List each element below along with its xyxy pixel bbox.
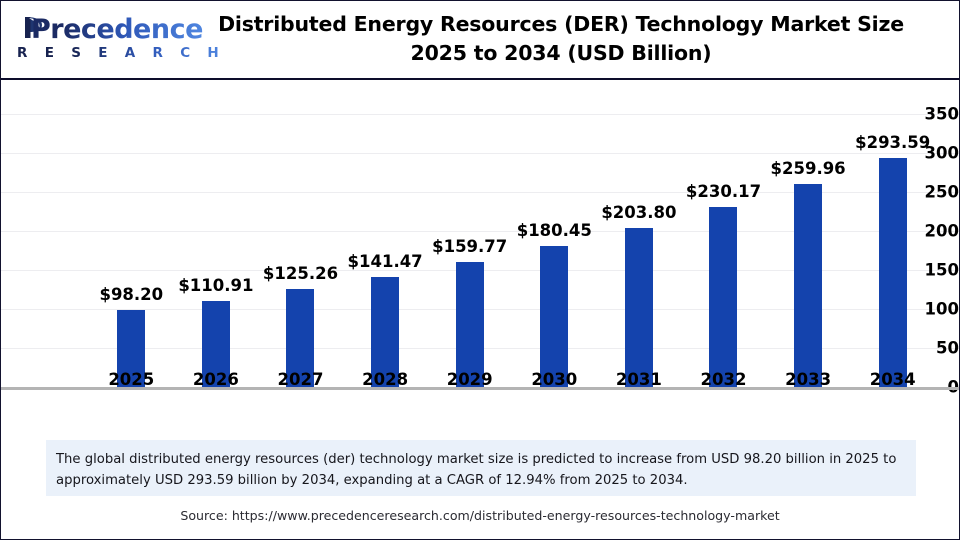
brand-name: Precedence [31,14,203,45]
x-axis-tick-label: 2028 [362,370,408,389]
x-axis-tick-label: 2029 [447,370,493,389]
bar[interactable] [794,184,822,387]
bar[interactable] [456,262,484,387]
bar-group[interactable]: $125.262027 [258,81,343,431]
bar-group[interactable]: $141.472028 [343,81,428,431]
bar-value-label: $125.26 [263,264,338,283]
brand-logo: Precedence R E S E A R C H [15,14,175,66]
bar-group[interactable]: $230.172032 [681,81,766,431]
bar-value-label: $180.45 [517,221,592,240]
bar-chart: 050100150200250300350 $98.202025$110.912… [1,81,959,431]
bar[interactable] [625,228,653,387]
bar-group[interactable]: $159.772029 [427,81,512,431]
page-title: Distributed Energy Resources (DER) Techn… [181,10,941,68]
x-axis-tick-label: 2034 [870,370,916,389]
title-line-1: Distributed Energy Resources (DER) Techn… [218,12,904,36]
bar-value-label: $141.47 [348,252,423,271]
bar-group[interactable]: $259.962033 [766,81,851,431]
bar-group[interactable]: $293.592034 [850,81,935,431]
x-axis-tick-label: 2031 [616,370,662,389]
bar-value-label: $98.20 [99,285,163,304]
title-line-2: 2025 to 2034 (USD Billion) [411,41,712,65]
bar-value-label: $259.96 [771,159,846,178]
bar-group[interactable]: $203.802031 [597,81,682,431]
bar-value-label: $110.91 [178,276,253,295]
bar[interactable] [879,158,907,387]
bar[interactable] [540,246,568,387]
bar-value-label: $293.59 [855,133,930,152]
bar-value-label: $203.80 [601,203,676,222]
bar-group[interactable]: $110.912026 [174,81,259,431]
source-note: Source: https://www.precedenceresearch.c… [1,508,959,523]
bar-value-label: $230.17 [686,182,761,201]
x-axis-tick-label: 2026 [193,370,239,389]
x-axis-tick-label: 2030 [531,370,577,389]
bar-group[interactable]: $98.202025 [89,81,174,431]
infographic-root: Precedence R E S E A R C H Distributed E… [0,0,960,540]
bar-group[interactable]: $180.452030 [512,81,597,431]
bar[interactable] [709,207,737,387]
x-axis-tick-label: 2027 [278,370,324,389]
header-bar: Precedence R E S E A R C H Distributed E… [1,1,959,80]
bar-value-label: $159.77 [432,237,507,256]
x-axis-tick-label: 2025 [108,370,154,389]
x-axis-tick-label: 2033 [785,370,831,389]
x-axis-tick-label: 2032 [701,370,747,389]
caption-box: The global distributed energy resources … [46,440,916,496]
plot-area: $98.202025$110.912026$125.262027$141.472… [89,81,935,431]
